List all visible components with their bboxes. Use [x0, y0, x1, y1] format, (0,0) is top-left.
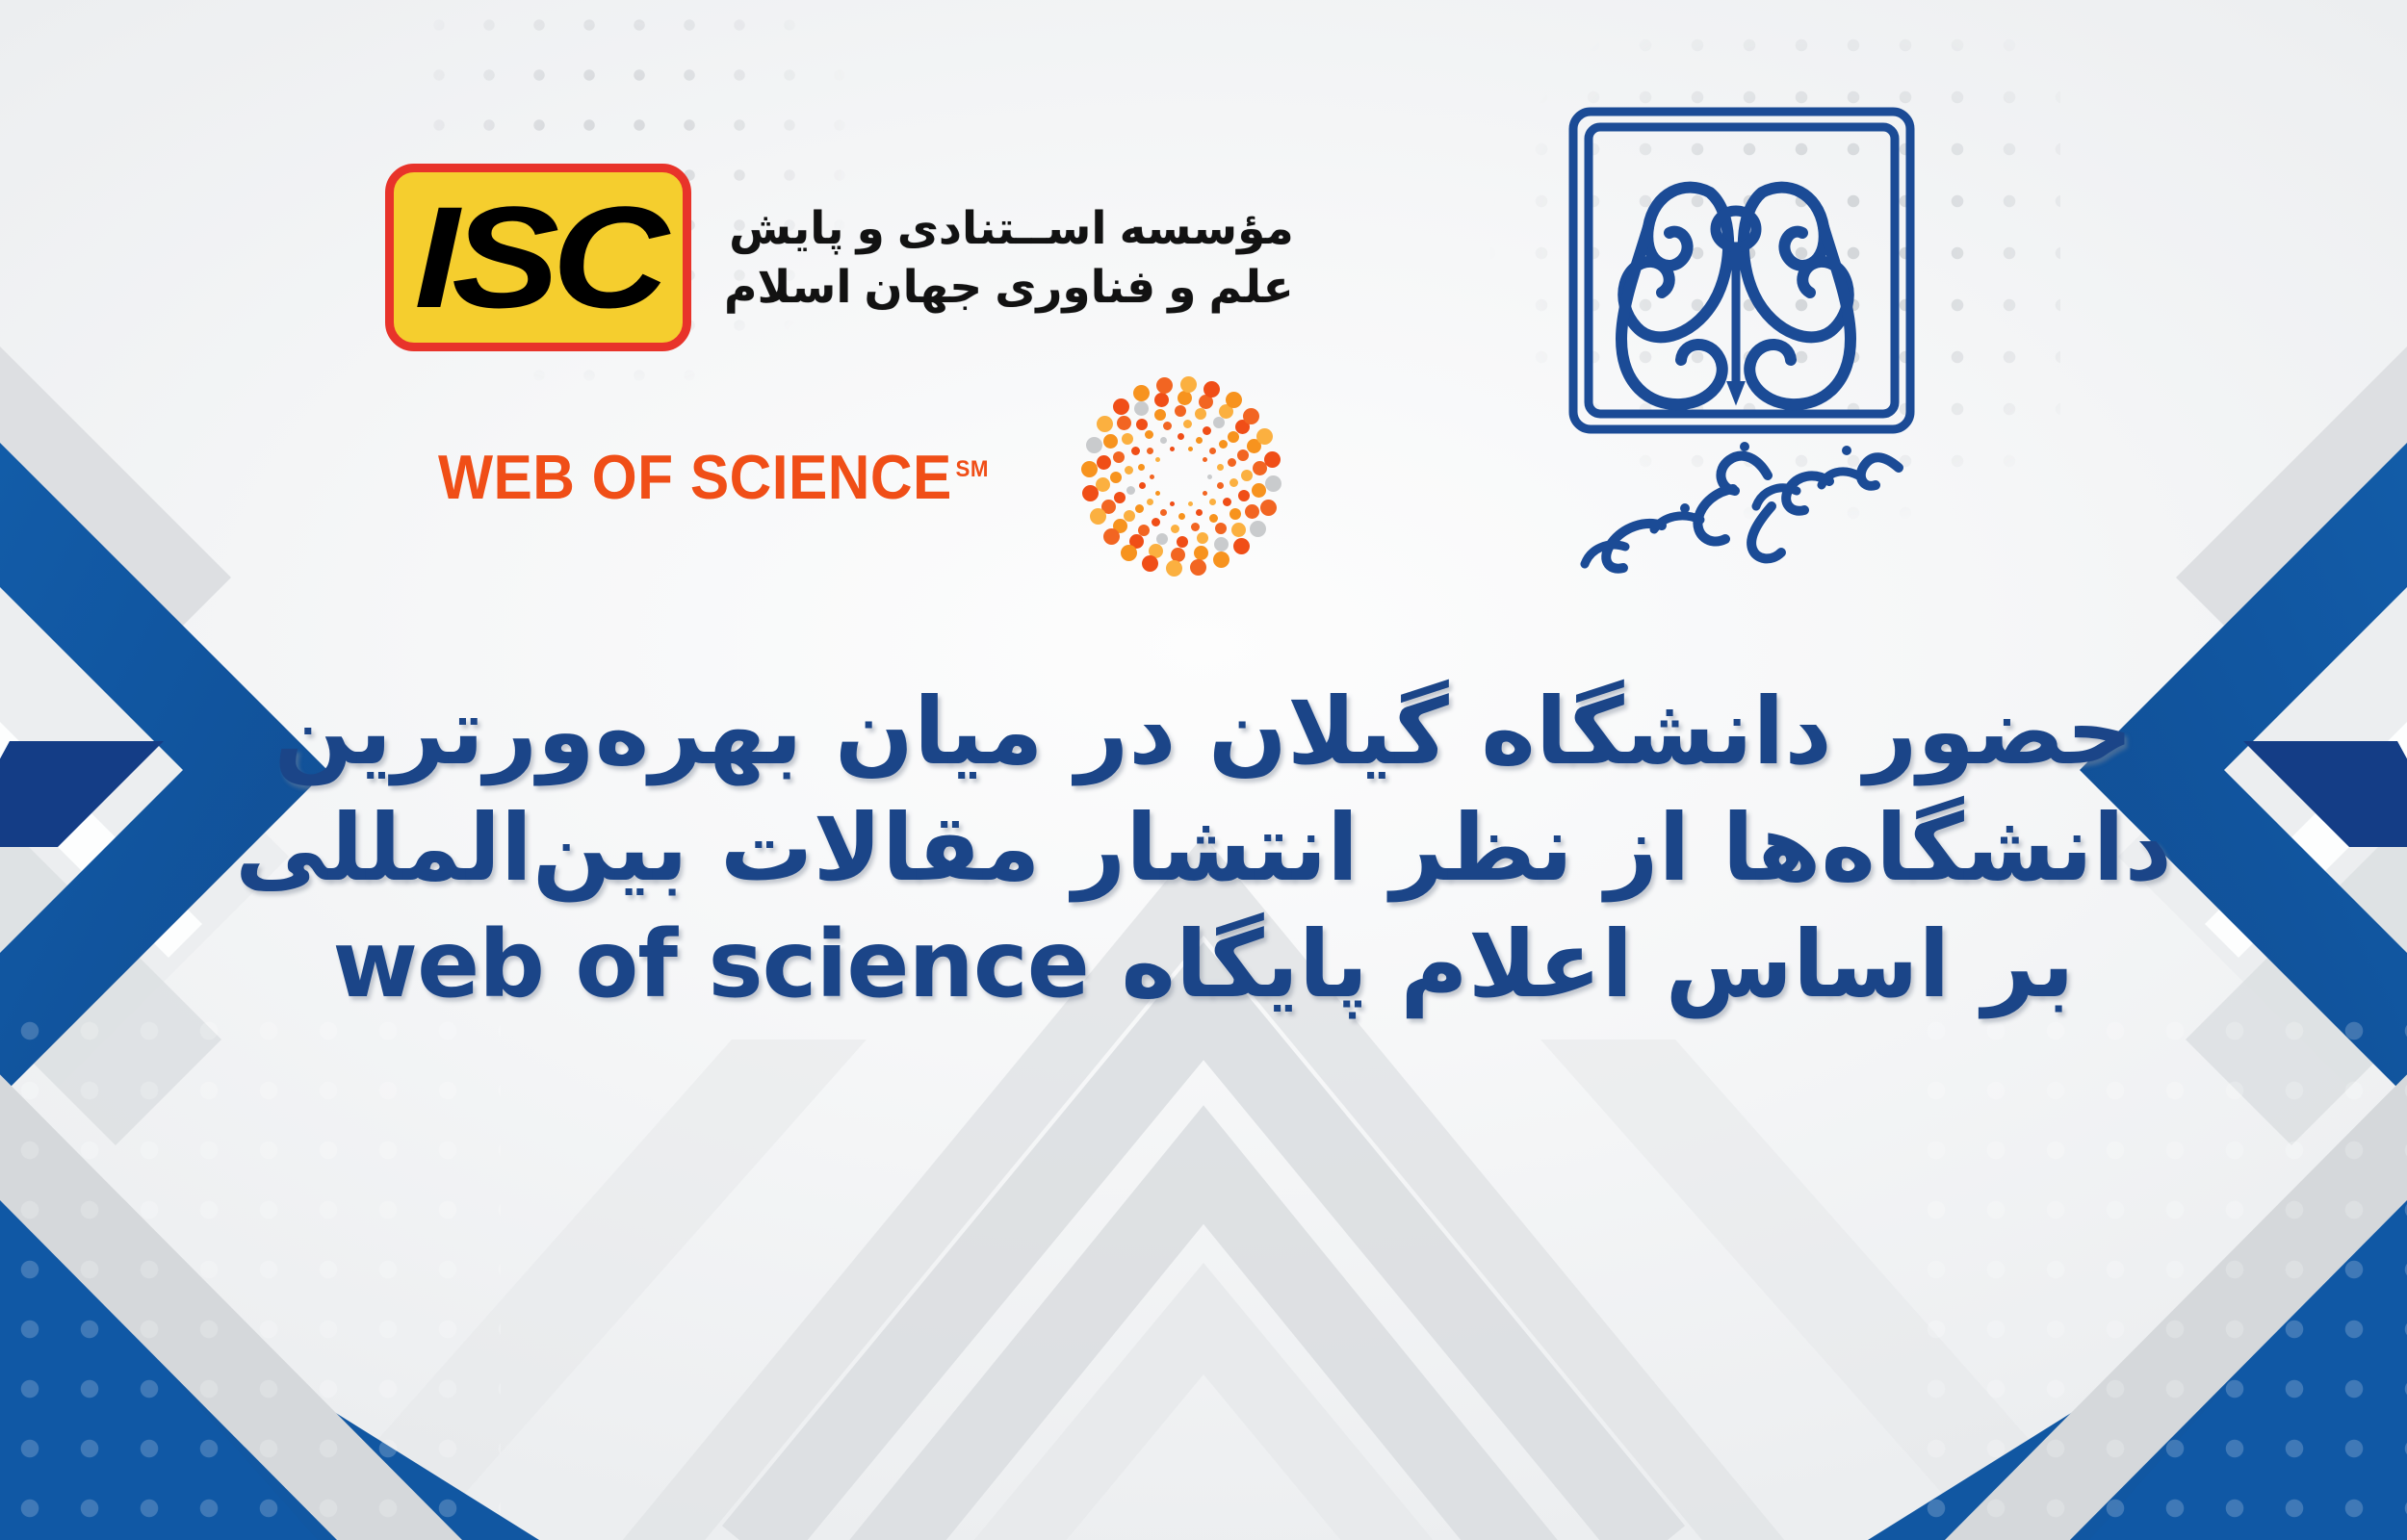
headline-line-3: بر اساس اعلام پایگاه web of science [0, 907, 2407, 1023]
university-of-guilan-emblem-icon [1540, 87, 1983, 587]
headline-line-3-rtl: بر اساس اعلام پایگاه [1089, 911, 2075, 1018]
isc-logo-line2: علم و فناوری جهان اسلام [724, 258, 1294, 316]
web-of-science-wordmark: WEB OF SCIENCESM [438, 441, 989, 513]
logo-row: مؤسسه اســتنادی و پایش علم و فناوری جهان… [0, 0, 2407, 654]
right-blue-dot-texture [1906, 1001, 2407, 1540]
isc-logo-mark: ISC [385, 164, 691, 351]
university-of-guilan-logo [1540, 87, 1983, 587]
web-of-science-wordmark-text: WEB OF SCIENCE [438, 442, 952, 512]
poster-root: مؤسسه اســتنادی و پایش علم و فناوری جهان… [0, 0, 2407, 1540]
headline: حضور دانشگاه گیلان در میان بهره‌ورترین د… [0, 674, 2407, 1023]
web-of-science-sm-mark: SM [956, 456, 989, 482]
isc-logo-line1: مؤسسه اســتنادی و پایش [724, 199, 1294, 257]
headline-line-1: حضور دانشگاه گیلان در میان بهره‌ورترین [0, 674, 2407, 790]
web-of-science-dot-icon [1078, 373, 1285, 580]
headline-line-2: دانشگاه‌ها از نظر انتشار مقالات بین‌المل… [0, 790, 2407, 907]
isc-logo-text: مؤسسه اســتنادی و پایش علم و فناوری جهان… [724, 199, 1294, 315]
web-of-science-logo: WEB OF SCIENCESM [438, 373, 1285, 580]
isc-logo-acronym: ISC [415, 198, 662, 317]
headline-line-3-ltr: web of science [332, 911, 1089, 1018]
isc-logo: مؤسسه اســتنادی و پایش علم و فناوری جهان… [385, 164, 1294, 351]
left-blue-dot-texture [0, 1001, 501, 1540]
